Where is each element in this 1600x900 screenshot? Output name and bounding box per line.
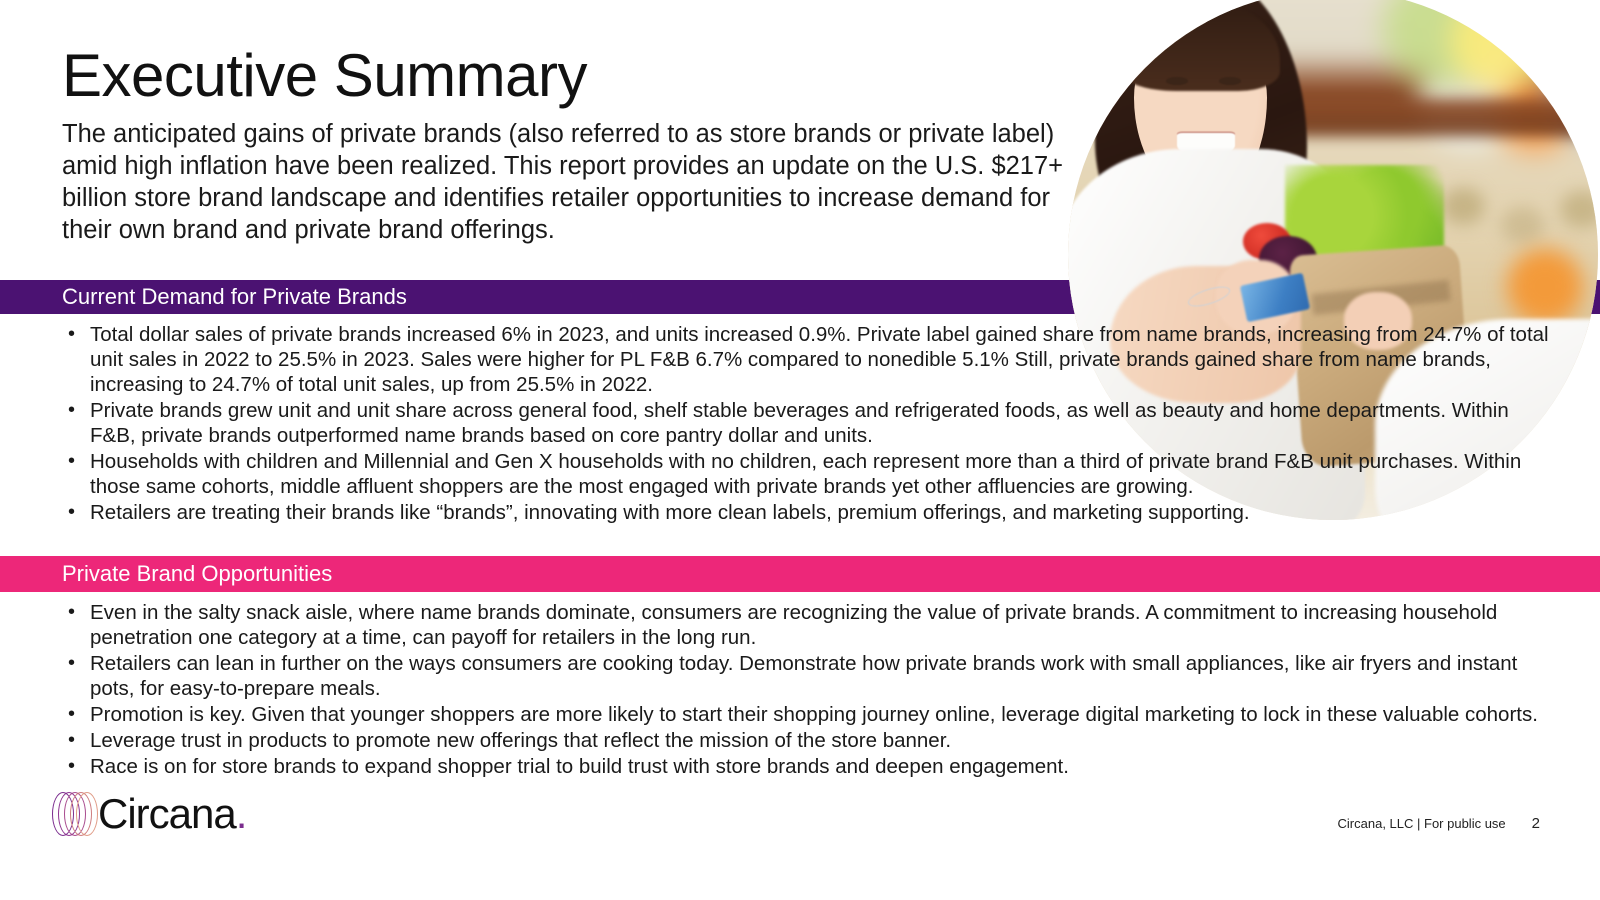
circana-wordmark-dot: . — [236, 790, 247, 837]
list-item: Households with children and Millennial … — [62, 449, 1552, 499]
list-item: Race is on for store brands to expand sh… — [62, 754, 1562, 779]
bullet-list-opportunities: Even in the salty snack aisle, where nam… — [62, 600, 1562, 780]
footer: Circana, LLC | For public use 2 — [1338, 815, 1540, 832]
section-label-opportunities: Private Brand Opportunities — [0, 563, 332, 585]
circana-wordmark: Circana. — [98, 793, 246, 835]
list-item: Retailers can lean in further on the way… — [62, 651, 1562, 701]
list-item: Total dollar sales of private brands inc… — [62, 322, 1552, 397]
section-band-opportunities: Private Brand Opportunities — [0, 556, 1600, 592]
circana-rings-icon — [52, 789, 104, 839]
intro-paragraph: The anticipated gains of private brands … — [62, 118, 1072, 246]
list-item: Even in the salty snack aisle, where nam… — [62, 600, 1562, 650]
section-label-current-demand: Current Demand for Private Brands — [0, 286, 407, 308]
bullet-list-current-demand: Total dollar sales of private brands inc… — [62, 322, 1552, 526]
footer-legal: Circana, LLC | For public use — [1338, 816, 1506, 831]
list-item: Leverage trust in products to promote ne… — [62, 728, 1562, 753]
circana-wordmark-text: Circana — [98, 790, 236, 837]
page-number: 2 — [1532, 815, 1540, 832]
page-title: Executive Summary — [62, 46, 1072, 106]
list-item: Retailers are treating their brands like… — [62, 500, 1552, 525]
title-block: Executive Summary The anticipated gains … — [62, 46, 1072, 246]
circana-logo: Circana. — [52, 786, 262, 842]
list-item: Promotion is key. Given that younger sho… — [62, 702, 1562, 727]
list-item: Private brands grew unit and unit share … — [62, 398, 1552, 448]
orange-produce-blob — [1503, 244, 1588, 329]
